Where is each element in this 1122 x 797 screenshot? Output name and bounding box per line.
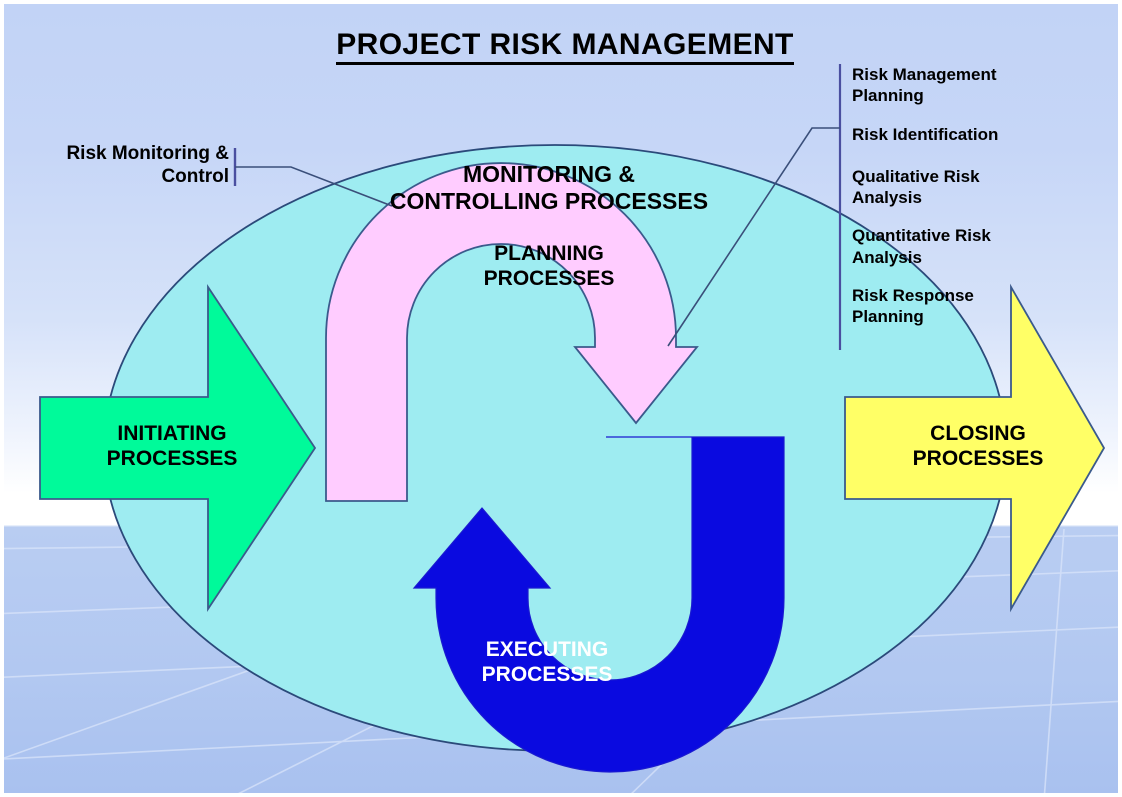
left-callout-label[interactable]: Risk Monitoring & Control: [24, 142, 229, 188]
right-callout-item-0[interactable]: Risk Management Planning: [852, 64, 1114, 107]
planning-processes-label: PLANNING PROCESSES: [424, 242, 674, 292]
right-callout-list: Risk Management Planning Risk Identifica…: [852, 64, 1114, 327]
executing-processes-label: EXECUTING PROCESSES: [422, 638, 672, 688]
right-callout-item-1[interactable]: Risk Identification: [852, 124, 1114, 145]
initiating-processes-label: INITIATING PROCESSES: [50, 422, 294, 472]
page-title-text: PROJECT RISK MANAGEMENT: [336, 28, 794, 65]
right-callout-item-3[interactable]: Quantitative Risk Analysis: [852, 225, 1114, 268]
closing-processes-label: CLOSING PROCESSES: [856, 422, 1100, 472]
right-callout-item-4[interactable]: Risk Response Planning: [852, 285, 1114, 328]
page-title: PROJECT RISK MANAGEMENT: [4, 28, 1122, 62]
diagram-canvas: PROJECT RISK MANAGEMENT Risk Monitoring …: [0, 0, 1122, 797]
monitoring-controlling-label: MONITORING & CONTROLLING PROCESSES: [315, 161, 783, 215]
right-callout-item-2[interactable]: Qualitative Risk Analysis: [852, 166, 1114, 209]
